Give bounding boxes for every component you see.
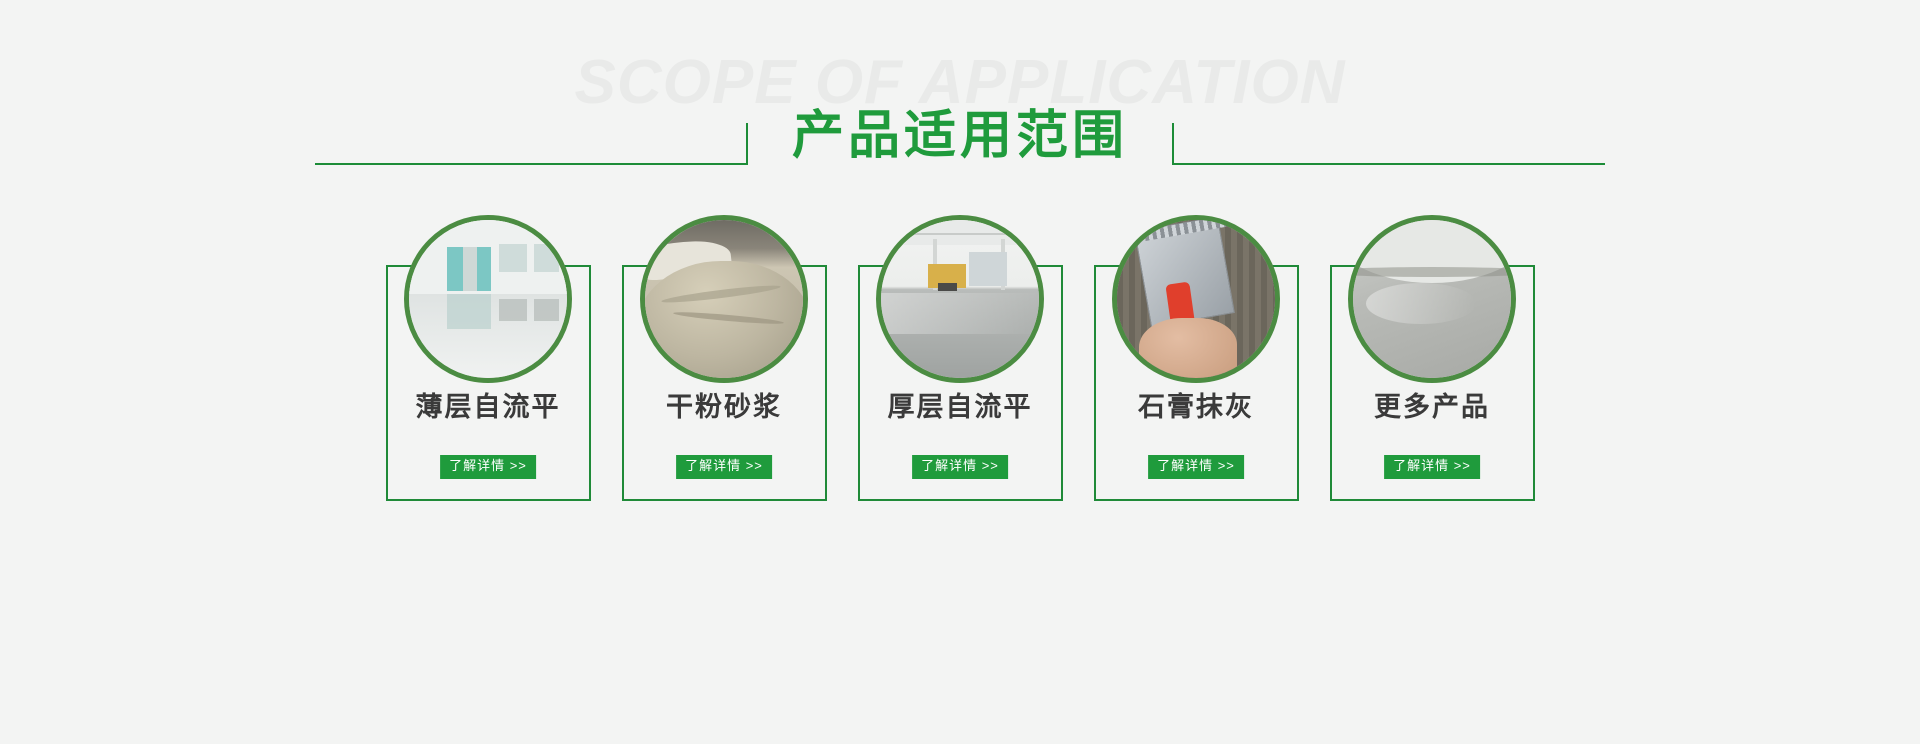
thick-layer-self-leveling-floor-photo[interactable] (876, 215, 1044, 383)
more-products-photo[interactable] (1348, 215, 1516, 383)
card-title: 干粉砂浆 (622, 391, 827, 423)
learn-more-button[interactable]: 了解详情 >> (1148, 455, 1244, 479)
application-card[interactable]: 薄层自流平 了解详情 >> (386, 215, 591, 501)
learn-more-button[interactable]: 了解详情 >> (1384, 455, 1480, 479)
card-title: 石膏抹灰 (1094, 391, 1299, 423)
title-tick-left (746, 123, 748, 165)
application-card[interactable]: 更多产品 了解详情 >> (1330, 215, 1535, 501)
title-rule-right (1174, 163, 1605, 165)
learn-more-button[interactable]: 了解详情 >> (912, 455, 1008, 479)
title-tick-right (1172, 123, 1174, 165)
section-title-row: 产品适用范围 (315, 100, 1605, 172)
application-card[interactable]: 干粉砂浆 了解详情 >> (622, 215, 827, 501)
page-title: 产品适用范围 (748, 110, 1172, 162)
application-card[interactable]: 石膏抹灰 了解详情 >> (1094, 215, 1299, 501)
title-rule-left (315, 163, 746, 165)
dry-powder-mortar-photo[interactable] (640, 215, 808, 383)
gypsum-plastering-trowel-photo[interactable] (1112, 215, 1280, 383)
application-card[interactable]: 厚层自流平 了解详情 >> (858, 215, 1063, 501)
application-card-list: 薄层自流平 了解详情 >> 干粉砂浆 了解详情 >> 厚层自流平 了解详情 >> (0, 215, 1920, 555)
card-title: 薄层自流平 (386, 391, 591, 423)
card-title: 厚层自流平 (858, 391, 1063, 423)
learn-more-button[interactable]: 了解详情 >> (676, 455, 772, 479)
learn-more-button[interactable]: 了解详情 >> (440, 455, 536, 479)
section-header: SCOPE OF APPLICATION 产品适用范围 (0, 0, 1920, 200)
thin-layer-self-leveling-floor-photo[interactable] (404, 215, 572, 383)
card-title: 更多产品 (1330, 391, 1535, 423)
